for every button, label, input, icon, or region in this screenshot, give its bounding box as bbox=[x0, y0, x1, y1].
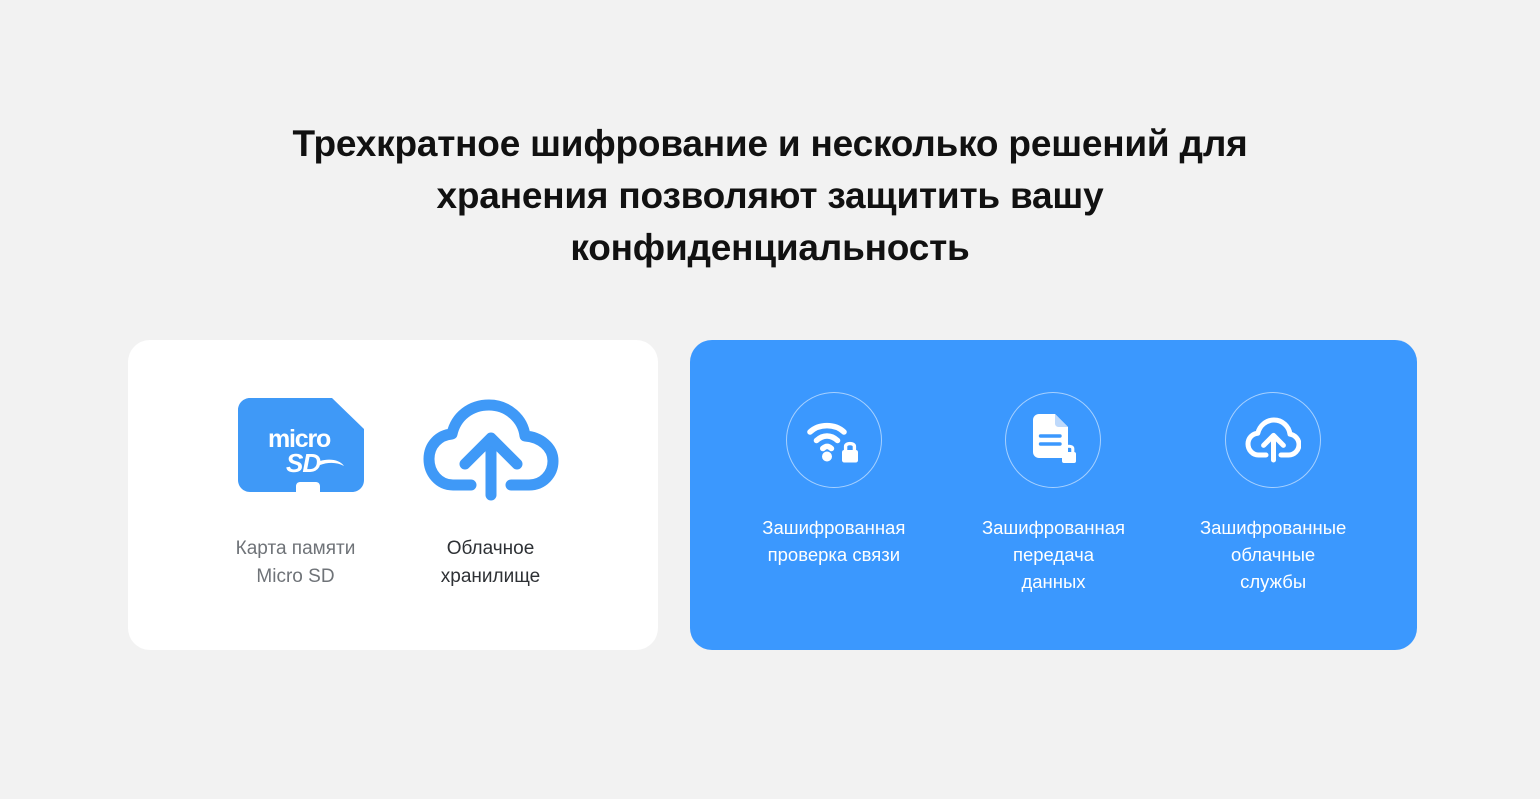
encryption-item-cloud-services-label: Зашифрованные облачные службы bbox=[1200, 514, 1346, 595]
label-line-1: Облачное bbox=[441, 535, 540, 563]
feature-cards-row: micro SD Карта памяти Micro SD bbox=[128, 340, 1417, 650]
label-line-1: Зашифрованные bbox=[1200, 514, 1346, 541]
encryption-item-data-transfer: Зашифрованная передача данных bbox=[953, 392, 1153, 595]
storage-options-card: micro SD Карта памяти Micro SD bbox=[128, 340, 658, 650]
storage-item-cloud-label: Облачное хранилище bbox=[441, 535, 540, 591]
label-line-1: Зашифрованная bbox=[762, 514, 905, 541]
label-line-3: службы bbox=[1200, 568, 1346, 595]
wifi-lock-icon bbox=[806, 417, 862, 463]
icon-ring bbox=[1225, 392, 1321, 488]
document-lock-icon bbox=[1028, 414, 1078, 466]
label-line-2: проверка связи bbox=[762, 541, 905, 568]
encryption-features-panel: Зашифрованная проверка связи bbox=[690, 340, 1417, 650]
label-line-1: Карта памяти bbox=[236, 535, 356, 563]
lock-glyph bbox=[842, 444, 858, 463]
label-line-3: данных bbox=[982, 568, 1125, 595]
storage-item-microsd-label: Карта памяти Micro SD bbox=[236, 535, 356, 591]
page-root: Трехкратное шифрование и несколько решен… bbox=[0, 0, 1540, 799]
microsd-card-icon: micro SD bbox=[228, 395, 364, 505]
encryption-item-cloud-services: Зашифрованные облачные службы bbox=[1173, 392, 1373, 595]
encryption-item-data-transfer-label: Зашифрованная передача данных bbox=[982, 514, 1125, 595]
microsd-word-sd: SD bbox=[286, 448, 321, 478]
storage-item-cloud: Облачное хранилище bbox=[393, 395, 588, 591]
label-line-2: Micro SD bbox=[236, 563, 356, 591]
lock-glyph bbox=[1062, 446, 1076, 463]
storage-item-microsd: micro SD Карта памяти Micro SD bbox=[198, 395, 393, 591]
label-line-2: хранилище bbox=[441, 563, 540, 591]
label-line-2: облачные bbox=[1200, 541, 1346, 568]
icon-ring bbox=[786, 392, 882, 488]
page-title: Трехкратное шифрование и несколько решен… bbox=[265, 118, 1275, 274]
label-line-2: передача bbox=[982, 541, 1125, 568]
icon-ring bbox=[1005, 392, 1101, 488]
cloud-upload-icon bbox=[421, 395, 561, 505]
label-line-1: Зашифрованная bbox=[982, 514, 1125, 541]
encryption-item-connection: Зашифрованная проверка связи bbox=[734, 392, 934, 568]
cloud-upload-outline-icon bbox=[1245, 417, 1301, 463]
encryption-item-connection-label: Зашифрованная проверка связи bbox=[762, 514, 905, 568]
